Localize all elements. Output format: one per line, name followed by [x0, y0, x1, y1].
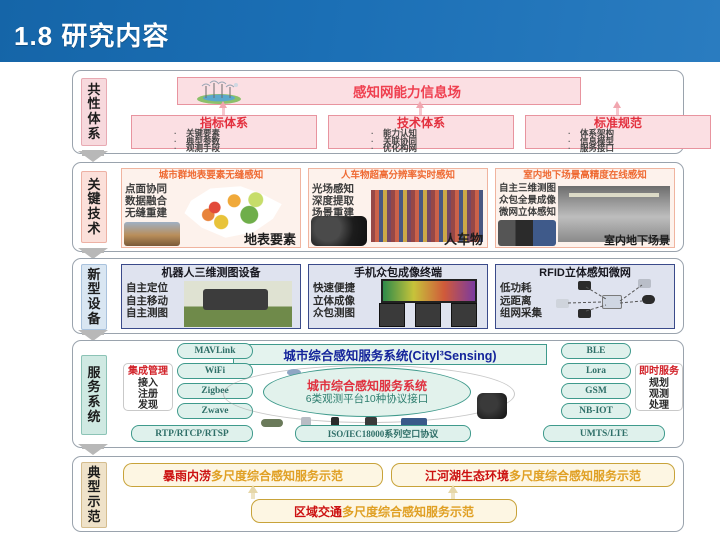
device-card-lines: 自主定位 自主移动 自主测图: [126, 282, 168, 320]
note-title: 即时服务: [636, 366, 682, 378]
line: 接入: [124, 378, 172, 389]
protocol-tag-rtp-rtcp-rtsp[interactable]: RTP/RTCP/RTSP: [131, 425, 253, 442]
tech-card-caption: 地表要素: [244, 229, 296, 248]
protocol-tag-gsm[interactable]: GSM: [561, 383, 631, 399]
tech-card-body: 光场感知 深度提取 场景重建 人车物: [309, 182, 487, 248]
screen: [381, 279, 477, 303]
protocol-tag-umts-lte[interactable]: UMTS/LTE: [543, 425, 665, 442]
side-label-char: 设: [87, 297, 100, 312]
pillar-technology-system[interactable]: 技术体系 能力认知 关联协同 优化构网: [328, 115, 514, 149]
tech-card-indoor-underground[interactable]: 室内地下场景高精度在线感知 自主三维测图 众包全景成像 微网立体感知 室内地下场…: [495, 168, 675, 248]
demo-connector-arrow-icon: [448, 485, 458, 493]
pillar-list: 体系架构 信息模型 服务接口: [526, 130, 710, 153]
robot-photo: [184, 281, 292, 327]
line: 数据融合: [125, 195, 167, 207]
tech-card-lines: 点面协同 数据融合 无缝重建: [125, 183, 167, 219]
line: 点面协同: [125, 183, 167, 195]
pillar-title: 标准规范: [526, 117, 710, 130]
protocol-tag-nb-iot[interactable]: NB-IOT: [561, 403, 631, 419]
section-common-system: 共 性 体 系 感知网能力信息场 指标体系 关键要素 典型参数 观测手段 技术: [72, 70, 684, 154]
device-card-lines: 快速便捷 立体成像 众包测图: [313, 282, 355, 320]
pillar-title: 技术体系: [329, 117, 513, 130]
line: 远距离: [500, 295, 542, 308]
line: 自主测图: [126, 307, 168, 320]
demo-highlight: 区域交通: [294, 503, 342, 520]
tech-card-lines: 自主三维测图 众包全景成像 微网立体感知: [499, 183, 556, 219]
side-label-char: 统: [87, 410, 100, 425]
note-title: 集成管理: [124, 366, 172, 378]
capability-field-label: 感知网能力信息场: [297, 81, 461, 101]
line: 低功耗: [500, 282, 542, 295]
instant-service-note[interactable]: 即时服务 规划 观测 处理: [635, 363, 683, 411]
line: 注册: [124, 389, 172, 400]
connector-arrow-icon: [416, 101, 424, 108]
side-label-char: 新: [87, 268, 100, 283]
section-typical-demonstration: 典 型 示 范 暴雨内涝 多尺度综合感知服务示范 江河湖生态环境 多尺度综合感知…: [72, 456, 684, 532]
line: 组网采集: [500, 307, 542, 320]
list-item: 观测手段: [186, 145, 316, 153]
side-label-char: 术: [87, 222, 100, 237]
capability-information-field-box[interactable]: 感知网能力信息场: [177, 77, 581, 105]
line: 发现: [124, 400, 172, 411]
line: 深度提取: [312, 195, 354, 207]
side-label-char: 体: [87, 112, 100, 127]
tech-card-title: 室内地下场景高精度在线感知: [496, 169, 674, 182]
sidebar-item-service-system[interactable]: 服 务 系 统: [81, 355, 107, 435]
line: 立体成像: [313, 295, 355, 308]
demo-rest: 多尺度综合感知服务示范: [509, 467, 641, 484]
protocol-tag-ble[interactable]: BLE: [561, 343, 631, 359]
demo-highlight: 暴雨内涝: [163, 467, 211, 484]
line: 自主三维测图: [499, 183, 556, 195]
vehicle-icon: [261, 419, 283, 427]
pillar-title: 指标体系: [132, 117, 316, 130]
device-card-robot-mapping[interactable]: 机器人三维测图设备 自主定位 自主移动 自主测图: [121, 264, 301, 329]
line: 处理: [636, 400, 682, 411]
section-service-system: 服 务 系 统 城市综合感知服务系统(Cityl³Sensing) MAVLin…: [72, 340, 684, 448]
protocol-tag-lora[interactable]: Lora: [561, 363, 631, 379]
tech-card-title: 人车物超高分辨率实时感知: [309, 169, 487, 182]
sidebar-item-common-system[interactable]: 共 性 体 系: [81, 78, 107, 146]
note-lines: 接入 注册 发现: [124, 378, 172, 411]
sidebar-item-new-equipment[interactable]: 新 型 设 备: [81, 264, 107, 330]
light-field-camera-photo: [311, 216, 367, 246]
side-label-char: 系: [87, 395, 100, 410]
side-label-char: 技: [87, 207, 100, 222]
tech-card-body: 点面协同 数据融合 无缝重建 地表要素: [122, 182, 300, 248]
tech-card-caption: 人车物: [444, 229, 483, 248]
demo-river-lake-ecology[interactable]: 江河湖生态环境 多尺度综合感知服务示范: [391, 463, 675, 487]
flow-arrow-down-icon: [78, 444, 108, 455]
device-card-title: 机器人三维测图设备: [122, 265, 300, 280]
side-label-char: 典: [87, 466, 100, 481]
line: 场景重建: [312, 207, 354, 219]
protocol-tag-wifi[interactable]: WiFi: [177, 363, 253, 379]
line: 自主移动: [126, 295, 168, 308]
rfid-links: [556, 275, 668, 325]
device-photo: [498, 220, 556, 246]
line: 快速便捷: [313, 282, 355, 295]
pillar-indicator-system[interactable]: 指标体系 关键要素 典型参数 观测手段: [131, 115, 317, 149]
device-card-rfid-micro-network[interactable]: RFID立体感知微网 低功耗 远距离 组网采集: [495, 264, 675, 329]
service-system-title: 城市综合感知服务系统(Cityl³Sensing): [233, 344, 547, 365]
line: 无缝重建: [125, 207, 167, 219]
demo-rest: 多尺度综合感知服务示范: [342, 503, 474, 520]
phone-terminal-photo: [375, 279, 481, 327]
connector-arrow-icon: [613, 101, 621, 108]
list-item: 服务接口: [580, 145, 710, 153]
line: 众包全景成像: [499, 195, 556, 207]
side-label-char: 范: [87, 510, 100, 525]
demo-connector-arrow-icon: [248, 485, 258, 493]
line: 微网立体感知: [499, 207, 556, 219]
phone: [415, 303, 441, 327]
line: 众包测图: [313, 307, 355, 320]
device-card-phone-crowdsourcing[interactable]: 手机众包成像终端 快速便捷 立体成像 众包测图: [308, 264, 488, 329]
integrated-management-note[interactable]: 集成管理 接入 注册 发现: [123, 363, 173, 411]
demo-highlight: 江河湖生态环境: [425, 467, 509, 484]
note-lines: 规划 观测 处理: [636, 378, 682, 411]
page-title: 1.8 研究内容: [14, 16, 169, 53]
core-line-1: 城市综合感知服务系统: [307, 379, 427, 393]
pillar-standard-spec[interactable]: 标准规范 体系架构 信息模型 服务接口: [525, 115, 711, 149]
side-label-char: 务: [87, 380, 100, 395]
demo-rainstorm-waterlogging[interactable]: 暴雨内涝 多尺度综合感知服务示范: [123, 463, 383, 487]
line: 观测: [636, 389, 682, 400]
flow-arrow-down-icon: [78, 151, 108, 162]
sidebar-item-key-technology[interactable]: 关 键 技 术: [81, 171, 107, 243]
core-line-2: 6类观测平台10种协议接口: [306, 393, 429, 405]
tech-card-people-vehicle-object[interactable]: 人车物超高分辨率实时感知 光场感知 深度提取 场景重建 人车物: [308, 168, 488, 248]
side-label-char: 键: [87, 192, 100, 207]
demo-rest: 多尺度综合感知服务示范: [211, 467, 343, 484]
side-label-char: 备: [87, 312, 100, 327]
side-label-char: 共: [87, 83, 100, 98]
tech-card-lines: 光场感知 深度提取 场景重建: [312, 183, 354, 219]
line: 规划: [636, 378, 682, 389]
iso-protocol-tag[interactable]: ISO/IEC18000系列空口协议: [295, 425, 471, 442]
device-card-lines: 低功耗 远距离 组网采集: [500, 282, 542, 320]
slide-header: 1.8 研究内容: [0, 0, 720, 62]
section-key-technology: 关 键 技 术 城市群地表要素无缝感知 点面协同 数据融合 无缝重建 地表要素 …: [72, 162, 684, 252]
sensor-ball-icon: [477, 393, 507, 419]
terrain-photo: [124, 222, 180, 246]
pillar-list: 关键要素 典型参数 观测手段: [132, 130, 316, 153]
rfid-network-diagram: [556, 275, 668, 325]
tech-card-body: 自主三维测图 众包全景成像 微网立体感知 室内地下场景: [496, 182, 674, 248]
section-new-equipment: 新 型 设 备 机器人三维测图设备 自主定位 自主移动 自主测图 手机众包成像终…: [72, 258, 684, 334]
side-label-char: 型: [87, 282, 100, 297]
service-system-core[interactable]: 城市综合感知服务系统 6类观测平台10种协议接口: [263, 367, 471, 417]
side-label-char: 关: [87, 178, 100, 193]
connector-arrow-icon: [219, 101, 227, 108]
sidebar-item-typical-demo[interactable]: 典 型 示 范: [81, 462, 107, 528]
phone: [451, 303, 477, 327]
device-card-title: 手机众包成像终端: [309, 265, 487, 280]
pillar-list: 能力认知 关联协同 优化构网: [329, 130, 513, 153]
line: 自主定位: [126, 282, 168, 295]
protocol-tag-mavlink[interactable]: MAVLink: [177, 343, 253, 359]
side-label-char: 服: [87, 366, 100, 381]
tech-card-caption: 室内地下场景: [604, 232, 670, 248]
tech-card-title: 城市群地表要素无缝感知: [122, 169, 300, 182]
side-label-char: 系: [87, 127, 100, 142]
tech-card-surface-elements[interactable]: 城市群地表要素无缝感知 点面协同 数据融合 无缝重建 地表要素: [121, 168, 301, 248]
line: 光场感知: [312, 183, 354, 195]
list-item: 优化构网: [383, 145, 513, 153]
phone: [379, 303, 405, 327]
side-label-char: 型: [87, 480, 100, 495]
side-label-char: 性: [87, 97, 100, 112]
demo-regional-transport[interactable]: 区域交通 多尺度综合感知服务示范: [251, 499, 517, 523]
side-label-char: 示: [87, 495, 100, 510]
